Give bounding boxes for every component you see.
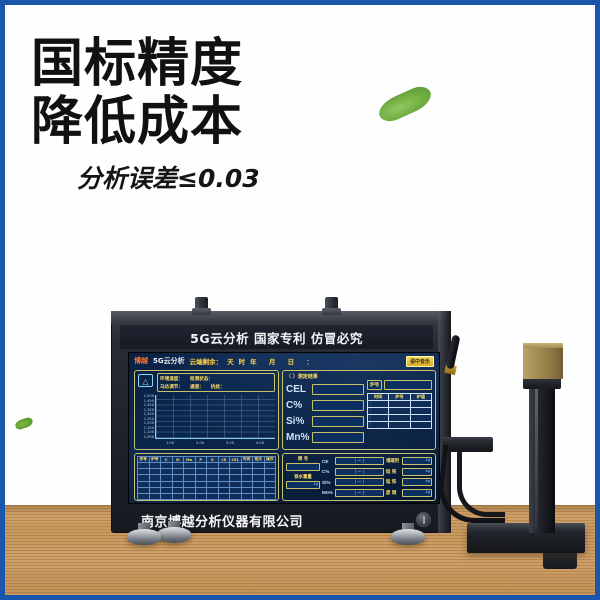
curve-field-1: 检测状态： xyxy=(190,376,213,384)
history-time: ： xyxy=(368,415,389,422)
addition-value-field[interactable] xyxy=(402,489,433,497)
target-range-text: | ～ | xyxy=(355,469,364,475)
sample-stand-post-highlight xyxy=(535,387,538,529)
measurement-history-body: ： ： ： xyxy=(368,401,432,429)
foot-pad xyxy=(391,529,425,545)
grade-input[interactable] xyxy=(286,463,320,471)
table-header-row: 时间 炉号 炉值 xyxy=(368,394,432,401)
date-label: 年 月 日 ： xyxy=(250,356,318,366)
y-tick: 1,100 xyxy=(136,430,155,434)
device-top-bevel xyxy=(111,311,451,324)
table-row[interactable]: ： xyxy=(368,422,432,429)
y-tick: 1,250 xyxy=(136,417,155,421)
history-heat xyxy=(389,415,410,422)
y-tick: 1,150 xyxy=(136,426,155,430)
element-row: C% xyxy=(286,397,364,413)
element-value-field[interactable] xyxy=(312,384,364,395)
grade-label: 牌 号 xyxy=(286,456,320,462)
device-top-banner-text: 5G云分析 国家专利 仿冒必究 xyxy=(190,328,363,347)
target-range-text: | ～ | xyxy=(355,479,364,485)
sample-stand-post xyxy=(529,385,555,533)
table-row[interactable]: ： xyxy=(368,401,432,408)
target-range-text: | ～ | xyxy=(355,490,364,496)
history-data-grid: 序号 炉号 C Si Mn P S CE CEL 时间 班次 操作 xyxy=(137,456,276,500)
measurement-history-table: 时间 炉号 炉值 ： ： xyxy=(367,393,432,429)
table-row[interactable] xyxy=(138,493,276,499)
target-label: C% xyxy=(322,469,334,474)
foot-pad xyxy=(127,529,161,545)
screen-brand-suffix: 5G云分析 xyxy=(153,356,185,366)
history-heat xyxy=(389,408,410,415)
x-tick: 4.00 xyxy=(256,441,264,448)
x-tick: 1.00 xyxy=(166,441,174,448)
history-time: ： xyxy=(368,401,389,408)
measurement-results-title: （ ）测定结果 xyxy=(286,373,318,380)
element-row: Si% xyxy=(286,413,364,429)
addition-row: 增碳剂 xyxy=(386,456,432,467)
device-foot xyxy=(127,523,161,545)
addition-amounts: 增碳剂 硅 铁 锰 铁 废 钢 xyxy=(386,456,432,498)
target-range-field[interactable]: | ～ | xyxy=(335,468,384,476)
device-top-banner: 5G云分析 国家专利 仿冒必究 xyxy=(120,325,433,349)
curve-field-4: 抗扰： xyxy=(211,384,225,392)
element-value-field[interactable] xyxy=(312,416,364,427)
y-tick: 1,400 xyxy=(136,403,155,407)
probe-cable-secondary xyxy=(457,451,505,517)
curve-icon: △ xyxy=(138,374,153,387)
history-heat xyxy=(389,401,410,408)
element-label: Mn% xyxy=(286,432,310,443)
history-data-grid-panel[interactable]: 序号 炉号 C Si Mn P S CE CEL 时间 班次 操作 xyxy=(134,453,279,501)
foot-pad xyxy=(157,527,191,543)
target-row: Mn% | ～ | xyxy=(322,488,384,499)
measurement-results-panel[interactable]: （ ）测定结果 CEL C% Si% Mn% xyxy=(282,370,436,450)
addition-row: 锰 铁 xyxy=(386,477,432,488)
history-heat xyxy=(389,422,410,429)
carry-handle-right xyxy=(325,297,338,313)
y-tick: 1,050 xyxy=(136,435,155,439)
element-label: C% xyxy=(286,400,310,411)
sample-stand-base-top xyxy=(467,523,585,529)
history-time: ： xyxy=(368,422,389,429)
cooling-curve-plot xyxy=(155,395,275,439)
element-row: Mn% xyxy=(286,429,364,445)
curve-x-axis: 1.00 2.00 3.00 4.00 xyxy=(155,441,275,448)
heat-number-input[interactable] xyxy=(384,380,432,390)
promo-headline: 国标精度 降低成本 分析误差≤0.03 xyxy=(31,35,361,195)
cooling-curve-panel[interactable]: △ 环境温度： 检测状态： 马达调节： 通道： 抗扰： 1,500 1,450 xyxy=(134,370,279,450)
addition-row: 废 钢 xyxy=(386,488,432,499)
addition-value-field[interactable] xyxy=(402,457,433,465)
target-row: CE | ～ | xyxy=(322,456,384,467)
headline-subline: 分析误差≤0.03 xyxy=(77,159,361,195)
headline-line-2: 降低成本 xyxy=(31,93,361,151)
element-row: CEL xyxy=(286,381,364,397)
y-tick: 1,450 xyxy=(136,399,155,403)
target-label: Mn% xyxy=(322,490,334,495)
addition-row: 硅 铁 xyxy=(386,467,432,478)
x-tick: 2.00 xyxy=(196,441,204,448)
target-range-field[interactable]: | ～ | xyxy=(335,489,384,497)
element-label: CEL xyxy=(286,384,310,395)
target-row: Si% | ～ | xyxy=(322,477,384,488)
target-range-text: | ～ | xyxy=(355,458,364,464)
history-time: ： xyxy=(368,408,389,415)
curve-field-3: 通道： xyxy=(190,384,204,392)
sample-stand-base xyxy=(467,525,585,553)
x-tick: 3.00 xyxy=(226,441,234,448)
history-value xyxy=(410,422,431,429)
history-col: 炉号 xyxy=(389,394,410,401)
cloud-remaining-hour: 时 xyxy=(239,356,246,366)
sound-toggle-button[interactable]: 语中音乐 xyxy=(406,356,434,367)
screen-header: 博越 5G云分析 云端剩余： 天 时 年 月 日 ： 语中音乐 xyxy=(129,353,439,368)
curve-field-0: 环境温度： xyxy=(160,376,183,384)
sample-cup-top xyxy=(523,343,563,348)
element-value-field[interactable] xyxy=(312,432,364,443)
y-tick: 1,200 xyxy=(136,421,155,425)
history-col: 时间 xyxy=(368,394,389,401)
cloud-remaining-label: 云端剩余： xyxy=(190,356,223,366)
table-row[interactable]: ： xyxy=(368,408,432,415)
target-range-field[interactable]: | ～ | xyxy=(335,457,384,465)
heat-number-area: 炉号 时间 炉号 炉值 ： xyxy=(367,380,432,429)
promo-image: 国标精度 降低成本 分析误差≤0.03 5G云分析 国家专利 仿冒必究 博越 5… xyxy=(0,0,600,600)
screen-brand: 博越 xyxy=(134,356,148,366)
history-value xyxy=(410,401,431,408)
y-tick: 1,300 xyxy=(136,412,155,416)
element-readouts: CEL C% Si% Mn% xyxy=(286,381,364,445)
stand-foot xyxy=(543,551,577,569)
history-col: 炉值 xyxy=(410,394,431,401)
addition-label: 锰 铁 xyxy=(386,479,400,485)
iron-weight-input[interactable] xyxy=(286,481,320,489)
heat-number-row: 炉号 xyxy=(367,380,432,390)
target-label: CE xyxy=(322,459,334,464)
cloud-remaining-day: 天 xyxy=(227,356,234,366)
carry-handle-left xyxy=(195,297,208,313)
charge-inputs: 牌 号 铁水重量 xyxy=(286,456,320,492)
history-value xyxy=(410,408,431,415)
curve-status-fields: 环境温度： 检测状态： 马达调节： 通道： 抗扰： xyxy=(157,373,275,392)
history-value xyxy=(410,415,431,422)
sample-cup xyxy=(523,345,563,379)
lcd-screen[interactable]: 博越 5G云分析 云端剩余： 天 时 年 月 日 ： 语中音乐 △ 环境温度： … xyxy=(128,352,440,504)
target-label: Si% xyxy=(322,480,334,485)
iron-weight-label: 铁水重量 xyxy=(286,474,320,480)
y-tick: 1,500 xyxy=(136,394,155,398)
target-range-field[interactable]: | ～ | xyxy=(335,478,384,486)
charge-calculation-panel[interactable]: 牌 号 铁水重量 CE | ～ | C% | ～ | xyxy=(282,453,436,501)
addition-label: 废 钢 xyxy=(386,490,400,496)
curve-y-axis: 1,500 1,450 1,400 1,350 1,300 1,250 1,20… xyxy=(136,394,155,439)
target-row: C% | ～ | xyxy=(322,467,384,478)
element-label: Si% xyxy=(286,416,310,427)
addition-value-field[interactable] xyxy=(402,468,433,476)
y-tick: 1,350 xyxy=(136,408,155,412)
addition-label: 增碳剂 xyxy=(386,458,400,464)
device-foot xyxy=(157,521,191,543)
target-ranges: CE | ～ | C% | ～ | Si% | ～ | Mn% xyxy=(322,456,384,498)
element-value-field[interactable] xyxy=(312,400,364,411)
table-row[interactable]: ： xyxy=(368,415,432,422)
addition-label: 硅 铁 xyxy=(386,469,400,475)
headline-line-1: 国标精度 xyxy=(31,35,361,93)
addition-value-field[interactable] xyxy=(402,478,433,486)
history-grid-body xyxy=(138,463,276,500)
curve-field-2: 马达调节： xyxy=(160,384,183,392)
carbon-silicon-analyzer: 5G云分析 国家专利 仿冒必究 博越 5G云分析 云端剩余： 天 时 年 月 日… xyxy=(111,311,451,533)
heat-number-label: 炉号 xyxy=(367,380,382,390)
device-foot xyxy=(391,523,425,545)
